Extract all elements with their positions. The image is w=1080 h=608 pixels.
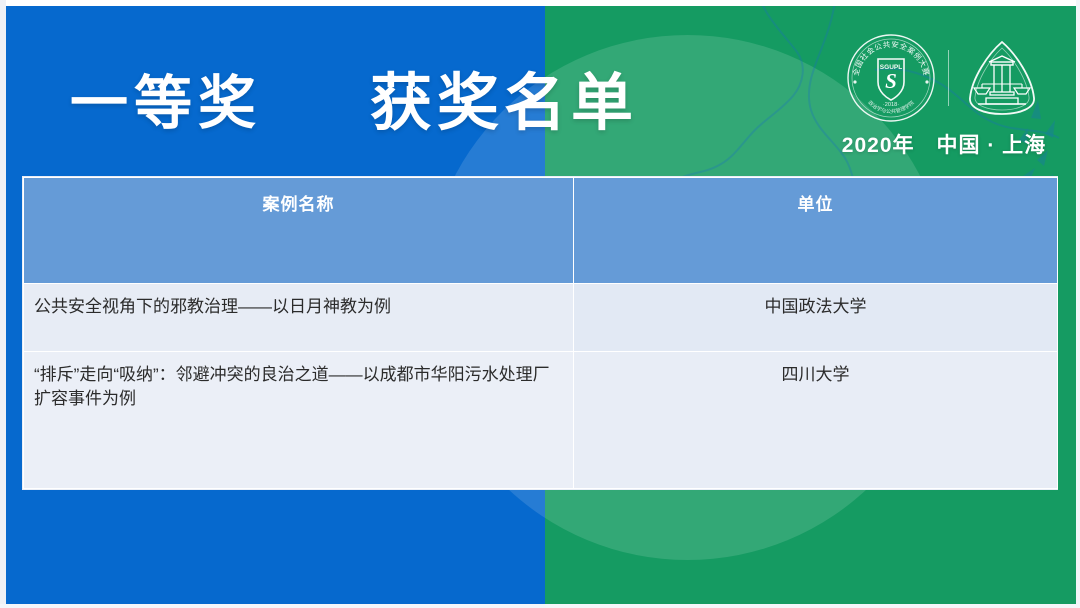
slide-edge-bottom bbox=[0, 604, 1080, 608]
cell-case-name: “排斥”走向“吸纳”：邻避冲突的良治之道——以成都市华阳污水处理厂扩容事件为例 bbox=[24, 351, 574, 488]
cell-unit: 中国政法大学 bbox=[574, 284, 1058, 352]
slide-edge-left bbox=[0, 0, 6, 608]
cell-case-name: 公共安全视角下的邪教治理——以日月神教为例 bbox=[24, 284, 574, 352]
table-body: 公共安全视角下的邪教治理——以日月神教为例 中国政法大学 “排斥”走向“吸纳”：… bbox=[24, 284, 1058, 489]
table-row: 公共安全视角下的邪教治理——以日月神教为例 中国政法大学 bbox=[24, 284, 1058, 352]
svg-text:S: S bbox=[885, 69, 897, 93]
competition-seal-emblem-icon: 全国社会公共安全案例大赛 政治学与公共管理学院 SGUPL S ·2018· bbox=[845, 32, 937, 124]
award-table-container: 案例名称 单位 公共安全视角下的邪教治理——以日月神教为例 中国政法大学 “排斥… bbox=[22, 176, 1058, 490]
cell-unit: 四川大学 bbox=[574, 351, 1058, 488]
column-header-unit: 单位 bbox=[574, 178, 1058, 284]
table-header: 案例名称 单位 bbox=[24, 178, 1058, 284]
slide-edge-right bbox=[1076, 0, 1080, 608]
logo-emblems: 全国社会公共安全案例大赛 政治学与公共管理学院 SGUPL S ·2018· bbox=[845, 30, 1044, 126]
logo-divider bbox=[948, 50, 949, 106]
table-header-row: 案例名称 单位 bbox=[24, 178, 1058, 284]
event-year-location-caption: 2020年 中国 · 上海 bbox=[842, 129, 1046, 159]
table-row: “排斥”走向“吸纳”：邻避冲突的良治之道——以成都市华阳污水处理厂扩容事件为例 … bbox=[24, 351, 1058, 488]
award-table: 案例名称 单位 公共安全视角下的邪教治理——以日月神教为例 中国政法大学 “排斥… bbox=[23, 177, 1058, 489]
svg-text:·2018·: ·2018· bbox=[882, 102, 898, 108]
university-arch-emblem-icon bbox=[960, 32, 1044, 124]
event-logo-lockup: 全国社会公共安全案例大赛 政治学与公共管理学院 SGUPL S ·2018· bbox=[840, 30, 1048, 159]
column-header-case-name: 案例名称 bbox=[24, 178, 574, 284]
slide-edge-top bbox=[0, 0, 1080, 6]
award-list-slide: 一等奖 获奖名单 全国社会公共安全案例大赛 政治学与公共管理学院 SGUPL S bbox=[0, 0, 1080, 608]
